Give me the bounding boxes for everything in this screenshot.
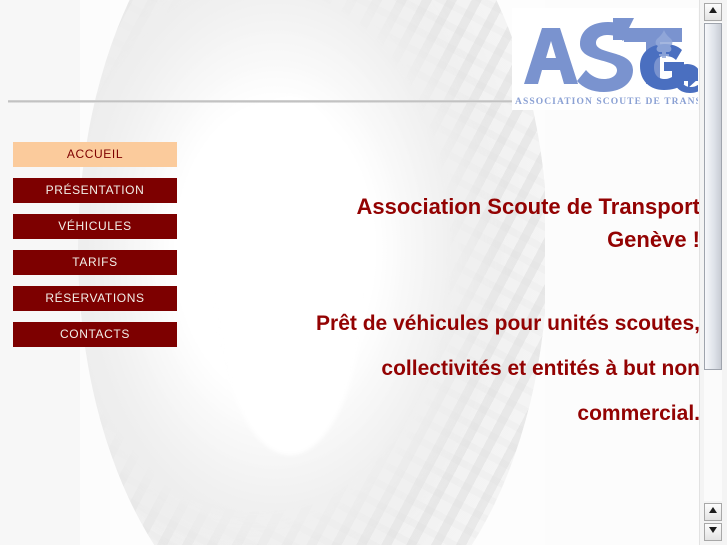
nav-item-tarifs[interactable]: TARIFS (13, 250, 177, 275)
scrollbar-thumb[interactable] (704, 23, 722, 370)
nav-item-accueil[interactable]: ACCUEIL (13, 142, 177, 167)
up-triangle-icon (709, 7, 717, 13)
scroll-down-arrow-icon[interactable] (704, 523, 722, 541)
site-header: ASSOCIATION SCOUTE DE TRANSPORT (0, 0, 700, 112)
scroll-up-arrow-icon-lower[interactable] (704, 503, 722, 521)
main-content: Association Scoute de Transport Genève !… (286, 190, 700, 436)
vertical-scrollbar[interactable] (699, 0, 727, 545)
page-subtext: Prêt de véhicules pour unités scoutes, c… (286, 256, 700, 436)
nav-item-vehicules[interactable]: VÉHICULES (13, 214, 177, 239)
page-root: ASSOCIATION SCOUTE DE TRANSPORT ACCUEIL … (0, 0, 727, 545)
logo-graphic: ASSOCIATION SCOUTE DE TRANSPORT (512, 8, 698, 110)
nav-item-reservations[interactable]: RÉSERVATIONS (13, 286, 177, 311)
main-navigation: ACCUEIL PRÉSENTATION VÉHICULES TARIFS RÉ… (13, 142, 177, 358)
logo-tagline: ASSOCIATION SCOUTE DE TRANSPORT (515, 97, 698, 107)
scroll-up-arrow-icon[interactable] (704, 3, 722, 21)
nav-item-presentation[interactable]: PRÉSENTATION (13, 178, 177, 203)
page-headline: Association Scoute de Transport Genève ! (286, 190, 700, 256)
site-logo[interactable]: ASSOCIATION SCOUTE DE TRANSPORT (512, 8, 698, 110)
down-triangle-icon (709, 527, 717, 533)
up-triangle-icon-lower (709, 507, 717, 513)
nav-item-contacts[interactable]: CONTACTS (13, 322, 177, 347)
